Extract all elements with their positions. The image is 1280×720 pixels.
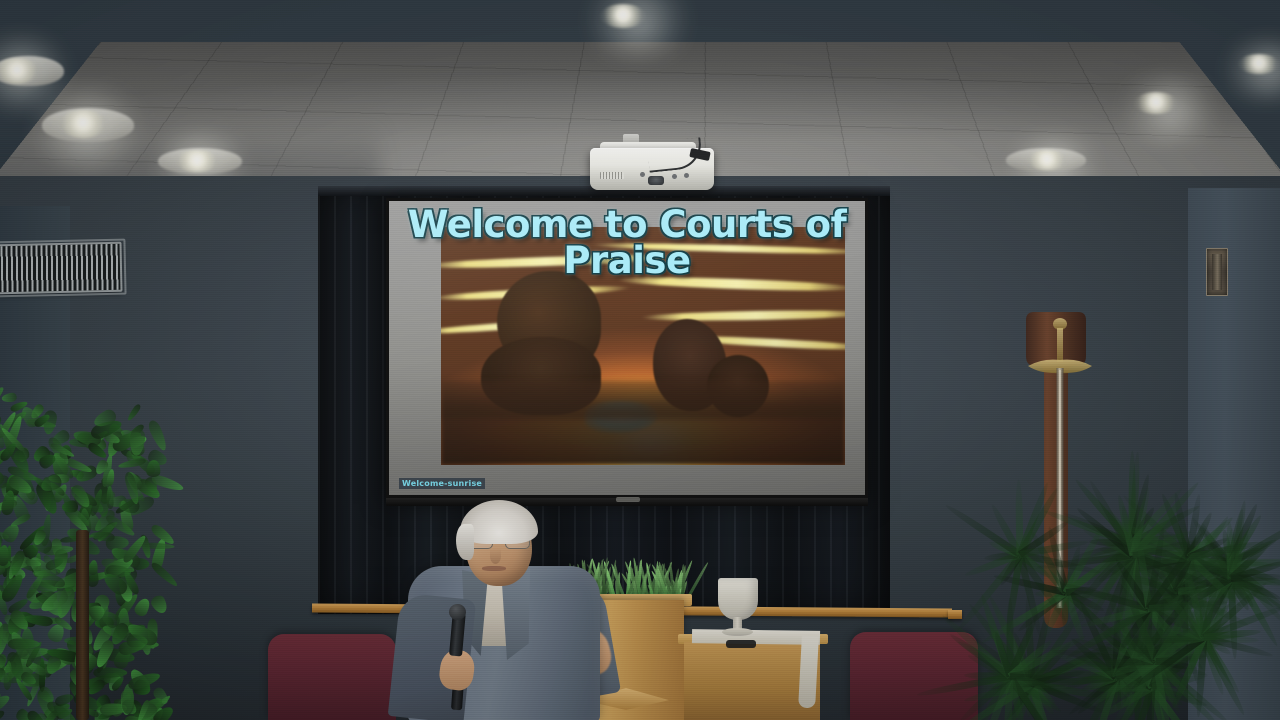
palm-plant-far-right	[1090, 520, 1280, 720]
wooden-chair-rail-end	[948, 610, 962, 619]
hvac-vent-frame	[0, 239, 127, 298]
cloud-streak-5	[641, 309, 845, 322]
slide-caption: Welcome-sunrise	[399, 478, 485, 489]
projector-lens	[648, 176, 664, 185]
white-chalice[interactable]	[718, 578, 758, 620]
wall-recess-inner	[1212, 254, 1222, 290]
foliage-leaf	[106, 486, 114, 509]
ceiling-light-7	[1238, 54, 1280, 74]
remote-control[interactable]	[726, 640, 756, 648]
speaker-at-pulpit	[390, 500, 620, 720]
ceiling-light-5	[1134, 92, 1178, 114]
maroon-chair-left[interactable]	[268, 634, 396, 720]
ceiling-light-4	[600, 4, 646, 28]
foliage-leaf	[1, 392, 17, 403]
sanctuary-scene: Welcome to Courts of Praise Welcome-sunr…	[0, 0, 1280, 720]
foliage-leaf	[0, 709, 6, 720]
chalice-foot	[722, 628, 753, 636]
maroon-chair-right[interactable]	[850, 632, 978, 720]
ficus-tree-left	[0, 300, 220, 720]
slide-title-line2: Praise	[397, 243, 857, 279]
speaker-nose	[490, 548, 501, 564]
speaker-mouth	[482, 566, 506, 571]
slide-title: Welcome to Courts of Praise	[397, 207, 857, 280]
ceiling-light-2	[58, 110, 108, 138]
speaker-hair-side	[456, 524, 474, 560]
projector-button-1[interactable]	[640, 172, 645, 177]
projector-vent	[600, 172, 624, 179]
projected-slide[interactable]: Welcome to Courts of Praise Welcome-sunr…	[389, 201, 865, 495]
ceiling-light-3	[174, 150, 220, 172]
horizon-line	[441, 381, 845, 465]
tree-trunk	[76, 530, 89, 720]
foliage-leaf	[149, 594, 170, 617]
slide-title-line1: Welcome to Courts of	[397, 207, 857, 243]
projector-button-3[interactable]	[684, 173, 689, 178]
foliage-leaf	[90, 531, 114, 542]
foliage-leaf	[125, 403, 141, 422]
ceiling-light-6	[1026, 150, 1068, 170]
projection-screen[interactable]: Welcome to Courts of Praise Welcome-sunr…	[386, 198, 868, 498]
projector-button-2[interactable]	[672, 174, 677, 179]
foliage-leaf	[149, 561, 179, 589]
foliage-leaf	[146, 459, 160, 477]
foliage-leaf	[147, 418, 170, 452]
